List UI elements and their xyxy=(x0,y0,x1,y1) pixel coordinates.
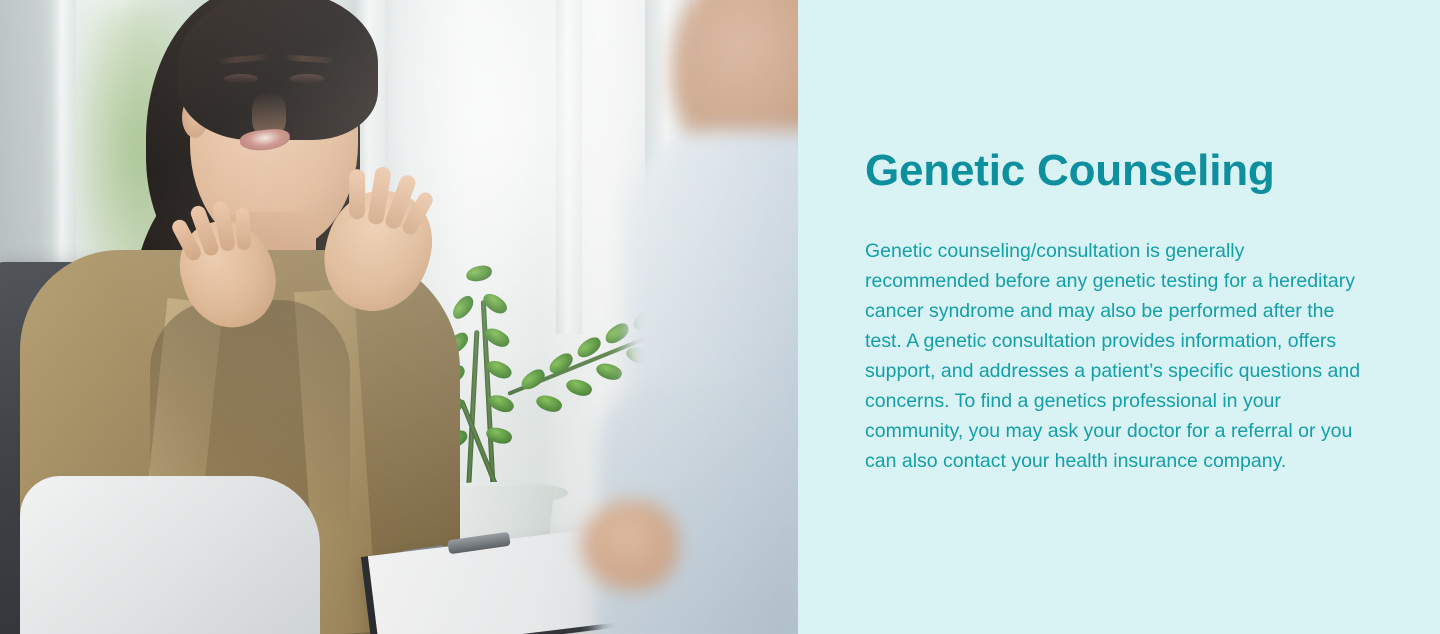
photo-pane xyxy=(0,0,798,634)
foreground-hand xyxy=(582,500,678,590)
finger xyxy=(235,208,251,251)
eye xyxy=(290,74,324,83)
text-pane: Genetic Counseling Genetic counseling/co… xyxy=(798,0,1440,634)
white-trousers xyxy=(20,476,320,634)
seated-woman xyxy=(0,0,520,634)
finger xyxy=(349,169,365,219)
page-title: Genetic Counseling xyxy=(865,148,1365,194)
eye xyxy=(224,74,258,83)
genetic-counseling-banner: Genetic Counseling Genetic counseling/co… xyxy=(0,0,1440,634)
body-paragraph: Genetic counseling/consultation is gener… xyxy=(865,236,1365,476)
blurred-foreground-person xyxy=(556,0,798,634)
